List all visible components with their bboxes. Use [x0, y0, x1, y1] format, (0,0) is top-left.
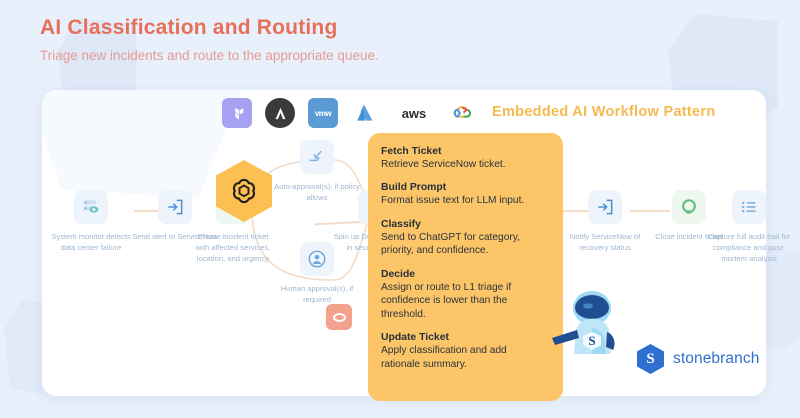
step-body: Apply classification and add rationale s…: [381, 344, 547, 371]
vmware-logo: vmw: [308, 98, 338, 128]
sidebar-item-notify-recovery[interactable]: Notify ServiceNow of recovery status: [562, 190, 648, 253]
arrow-into-box-icon: [158, 190, 192, 224]
azure-logo: [351, 98, 381, 128]
node-label: System monitor detects data center failu…: [48, 231, 134, 253]
card-notch-decoration: [42, 90, 242, 198]
server-eye-icon: [74, 190, 108, 224]
sidebar-item-system-monitor[interactable]: System monitor detects data center failu…: [48, 190, 134, 253]
step-title: Update Ticket: [381, 332, 547, 343]
node-label: Create incident ticket with affected ser…: [190, 231, 276, 264]
step-title: Build Prompt: [381, 182, 547, 193]
step-decide: Decide Assign or route to L1 triage if c…: [381, 269, 547, 321]
step-body: Format issue text for LLM input.: [381, 194, 547, 207]
step-title: Decide: [381, 269, 547, 280]
chat-bubble-icon[interactable]: [326, 304, 352, 330]
chat-bubble-glyph: [333, 313, 346, 322]
step-build-prompt: Build Prompt Format issue text for LLM i…: [381, 182, 547, 207]
workflow-steps-panel: Fetch Ticket Retrieve ServiceNow ticket.…: [368, 133, 563, 401]
node-label: Capture full audit trail for compliance …: [706, 231, 792, 264]
robot-badge-text: S: [588, 333, 595, 348]
openai-icon: [229, 176, 259, 206]
step-body: Assign or route to L1 triage if confiden…: [381, 281, 547, 321]
arrow-into-box-icon: [588, 190, 622, 224]
step-fetch-ticket: Fetch Ticket Retrieve ServiceNow ticket.: [381, 146, 547, 171]
aws-logo-text: aws: [402, 106, 427, 121]
sidebar-item-audit-trail[interactable]: Capture full audit trail for compliance …: [706, 190, 792, 264]
page-heading: AI Classification and Routing Triage new…: [40, 16, 379, 63]
step-title: Classify: [381, 219, 547, 230]
google-cloud-logo: [447, 98, 477, 128]
pattern-title: Embedded AI Workflow Pattern: [492, 104, 716, 120]
page-subtitle: Triage new incidents and route to the ap…: [40, 48, 379, 63]
integration-logo-strip: vmw aws: [222, 98, 477, 128]
terraform-logo: [222, 98, 252, 128]
step-update-ticket: Update Ticket Apply classification and a…: [381, 332, 547, 371]
step-body: Send to ChatGPT for category, priority, …: [381, 231, 547, 258]
ansible-logo: [265, 98, 295, 128]
step-body: Retrieve ServiceNow ticket.: [381, 158, 547, 171]
robot-mascot: S: [548, 286, 632, 358]
step-classify: Classify Send to ChatGPT for category, p…: [381, 219, 547, 258]
page-title: AI Classification and Routing: [40, 16, 379, 40]
node-label: Human approval(s), if required: [274, 283, 360, 305]
check-hand-icon: [300, 140, 334, 174]
aws-logo: aws: [394, 98, 434, 128]
user-circle-icon: [300, 242, 334, 276]
node-label: Notify ServiceNow of recovery status: [562, 231, 648, 253]
list-icon: [732, 190, 766, 224]
stonebranch-wordmark: stonebranch: [673, 350, 759, 368]
step-title: Fetch Ticket: [381, 146, 547, 157]
stonebranch-mark: S: [637, 344, 664, 374]
servicenow-icon: [672, 190, 706, 224]
stonebranch-logo: S stonebranch: [637, 344, 759, 374]
